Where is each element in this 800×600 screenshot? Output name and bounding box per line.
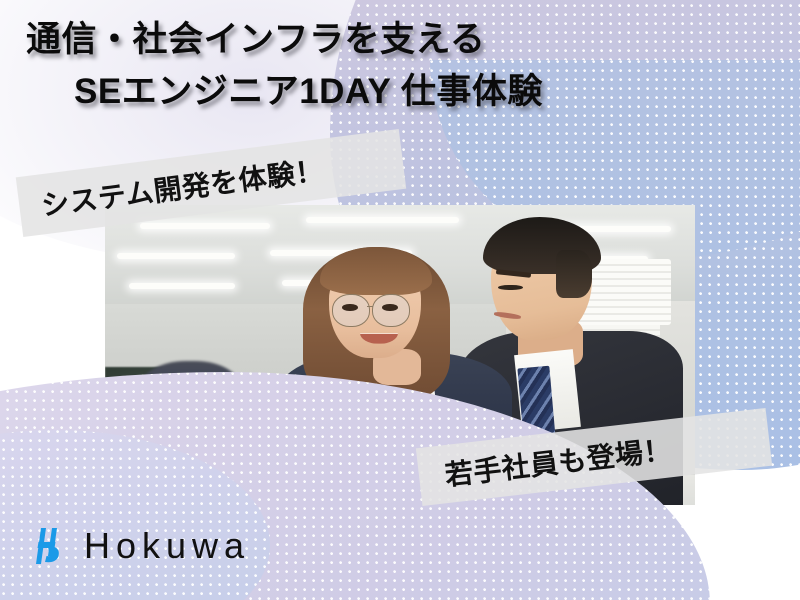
poster-root: 通信・社会インフラを支える SEエンジニア1DAY 仕事体験 システム開発を体験… [0,0,800,600]
photo-woman-hands-on-desk [211,469,341,505]
photo-woman-glasses-bridge [367,306,373,308]
ceiling-light [306,217,459,223]
headline: 通信・社会インフラを支える SEエンジニア1DAY 仕事体験 [0,14,660,118]
photo-woman-eye-right [382,304,397,311]
headline-line-1: 通信・社会インフラを支える [0,14,660,66]
photo-woman-eye-left [342,304,357,311]
hokuwa-logo-mark-icon [30,526,66,566]
ceiling-light [117,253,235,259]
hokuwa-logo-wordmark: Hokuwa [84,525,250,567]
photo-man-sideburn [556,250,591,298]
photo-man-eye [498,285,523,291]
ceiling-light [140,223,270,229]
ceiling-light [129,283,235,289]
headline-line-2: SEエンジニア1DAY 仕事体験 [0,66,660,118]
hokuwa-logo[interactable]: Hokuwa [30,525,250,567]
